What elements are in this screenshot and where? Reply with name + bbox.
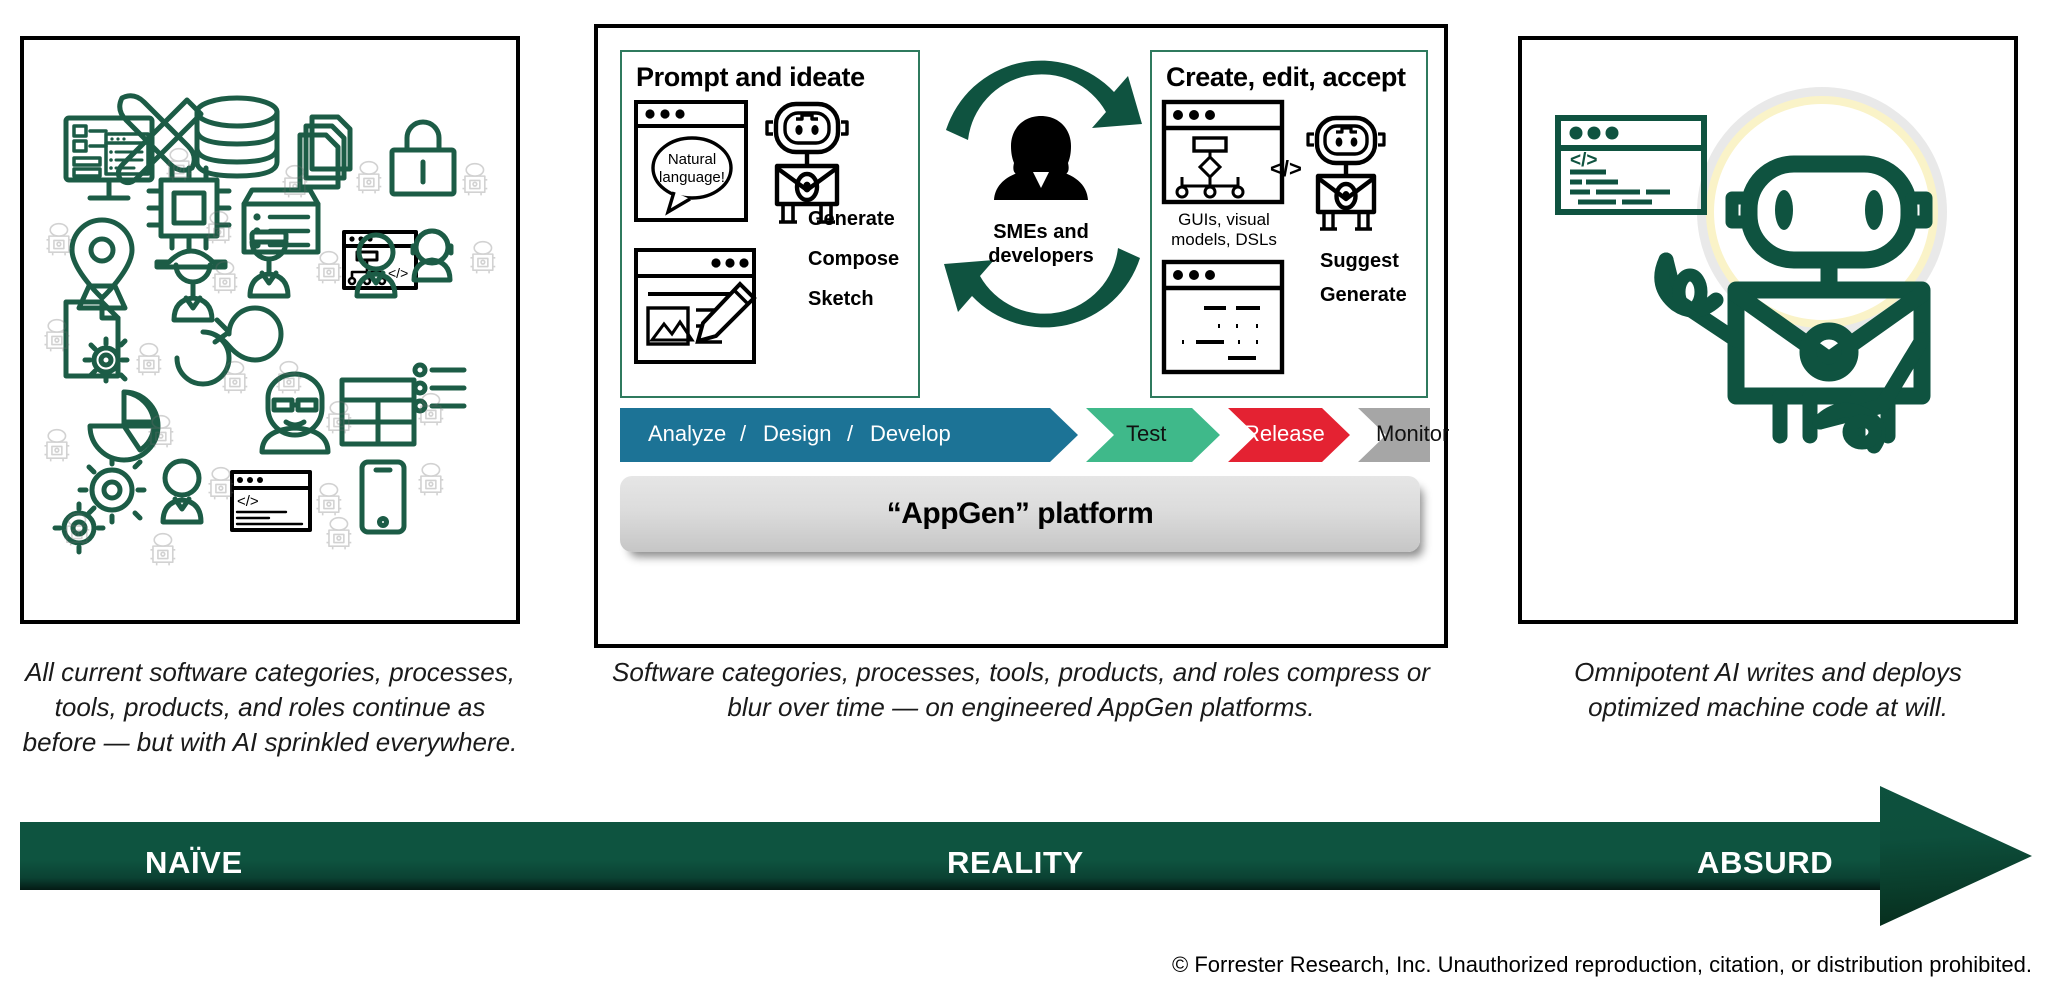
sketch-window-icon [636,250,754,362]
pipeline-separator-1: / [740,421,746,447]
absurd-panel: </> [1518,36,2018,624]
robot-generate-icon [767,104,847,222]
create-card-title: Create, edit, accept [1166,62,1406,93]
naive-panel: </> [20,36,520,624]
table-icon [342,380,414,444]
omnipotent-ai-robot-illustration: </> [1522,40,2014,620]
band-label-absurd: ABSURD [1697,845,1833,881]
reality-caption: Software categories, processes, tools, p… [594,655,1448,725]
sme-and-developers-block: SMEs and developers [936,112,1146,268]
lock-icon [392,122,454,194]
pipeline-separator-2: / [847,421,853,447]
location-icon [72,220,132,308]
person-icon [981,112,1101,216]
create-card-sublabel: GUIs, visual models, DSLs [1160,210,1288,249]
sme-caption: SMEs and developers [936,220,1146,268]
pipeline-label-monitor: Monitor [1376,421,1449,447]
sme-caption-line2: developers [936,244,1146,268]
pie-chart-icon [90,392,158,460]
absurd-code-glyph: </> [1570,150,1597,171]
prompt-card-title: Prompt and ideate [636,62,865,93]
pipeline-label-analyze: Analyze [648,421,726,447]
generated-output-window-icon [1164,262,1282,372]
svg-text:</>: </> [237,493,259,510]
create-edit-accept-card: Create, edit, accept </> [1150,50,1428,398]
pipeline-label-test: Test [1126,421,1166,447]
prompt-label-compose: Compose [808,248,899,271]
speech-bubble-line2: language! [659,169,725,186]
config-doc-icon [66,302,127,381]
appgen-platform-bar: “AppGen” platform [620,476,1420,552]
prompt-label-sketch: Sketch [808,288,874,311]
appgen-platform-label: “AppGen” platform [887,497,1154,531]
create-label-suggest: Suggest [1320,250,1399,273]
create-card-code-glyph: </> [1270,156,1302,181]
create-label-generate: Generate [1320,284,1407,307]
pipeline-label-release: Release [1244,421,1325,447]
naive-caption: All current software categories, process… [20,655,520,760]
mobile-icon [362,462,404,532]
robot-eye-right [1865,190,1883,230]
pipeline-label-develop: Develop [870,421,951,447]
prompt-label-generate: Generate [808,208,895,231]
gears-icon [55,458,144,552]
engineer-icon [163,461,201,522]
absurd-caption: Omnipotent AI writes and deploys optimiz… [1518,655,2018,725]
documents-icon [300,117,350,187]
reality-panel: Prompt and ideate Natural language! [594,24,1448,648]
hacker-icon [262,374,328,452]
prompt-and-ideate-card: Prompt and ideate Natural language! [620,50,920,398]
robot-eye-left [1775,190,1793,230]
checklist-icon [415,365,464,411]
legacy-software-icon-cloud: </> [24,40,516,620]
band-label-naive: NAÏVE [145,845,243,881]
operator-icon [250,232,288,296]
sme-caption-line1: SMEs and [936,220,1146,244]
code-window-icon: </> [232,472,310,530]
support-agent-icon [413,231,451,280]
robot-suggest-icon [1308,118,1384,229]
gui-model-window-icon [1164,102,1282,202]
speech-bubble-line1: Natural [668,151,716,168]
database-icon [197,98,277,176]
band-label-reality: REALITY [947,845,1084,881]
copyright-notice: © Forrester Research, Inc. Unauthorized … [1172,952,2032,978]
pipeline-label-design: Design [763,421,831,447]
sdlc-pipeline: Analyze / Design / Develop Test Release … [620,408,1430,462]
